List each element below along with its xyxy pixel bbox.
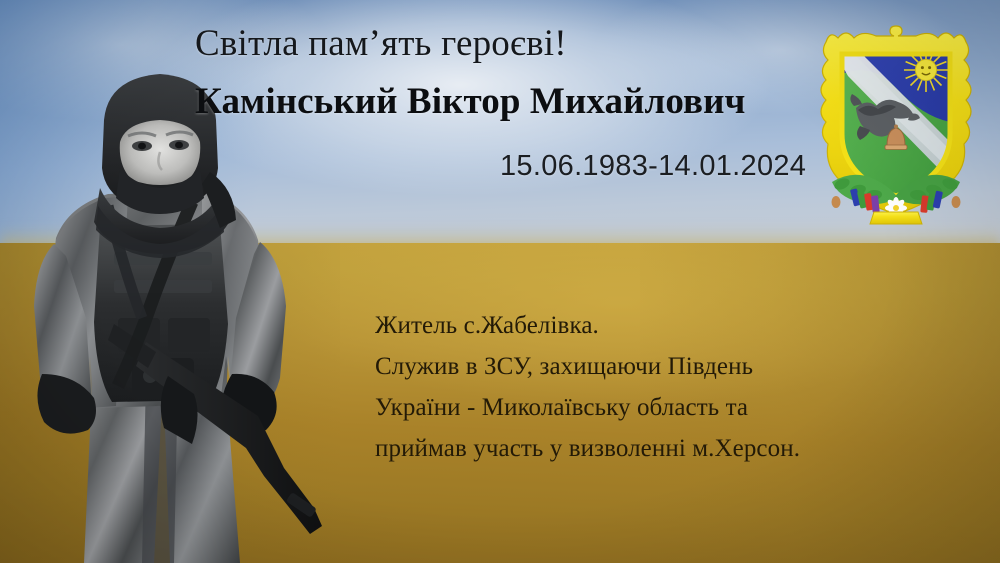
biography-line: Житель с.Жабелівка. (375, 305, 975, 346)
biography-line: приймав участь у визволенні м.Херсон. (375, 428, 975, 469)
biography-line: Служив в ЗСУ, захищаючи Південь (375, 346, 975, 387)
life-dates: 15.06.1983-14.01.2024 (500, 150, 806, 183)
soldier-portrait (0, 56, 326, 563)
soldier-name: Камінський Віктор Михайлович (195, 80, 746, 123)
memorial-poster: Світла пам’ять героєві! Камінський Вікто… (0, 0, 1000, 563)
biography-line: України - Миколаївську область та (375, 387, 975, 428)
biography-text: Житель с.Жабелівка. Служив в ЗСУ, захища… (375, 305, 975, 469)
coat-of-arms (812, 18, 980, 230)
page-title: Світла пам’ять героєві! (195, 22, 567, 65)
